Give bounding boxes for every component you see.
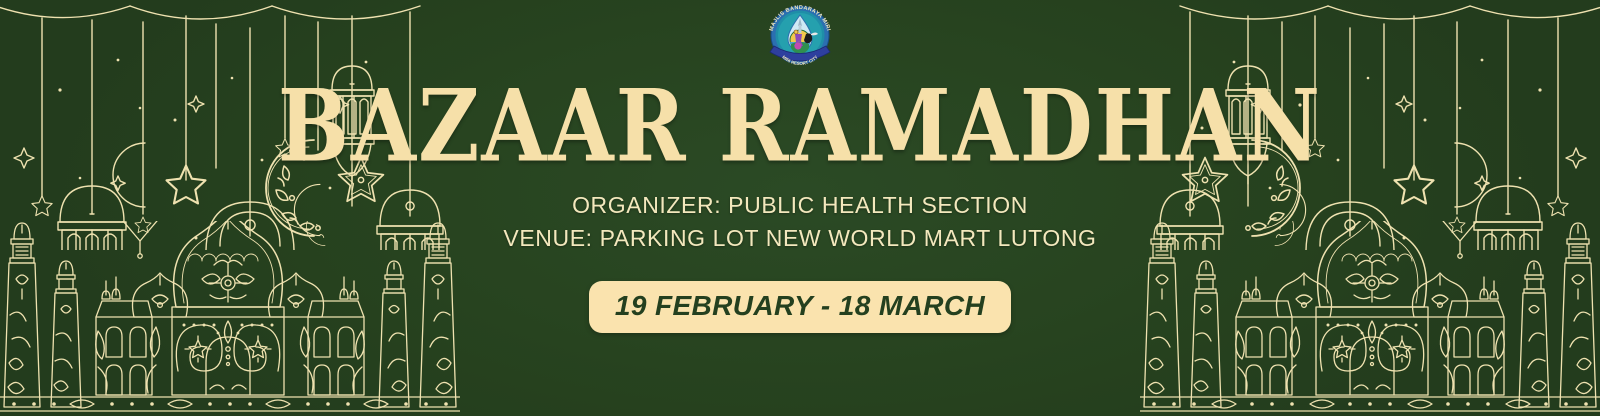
date-range-badge: 19 FEBRUARY - 18 MARCH [589, 281, 1011, 333]
organizer-line: ORGANIZER: PUBLIC HEALTH SECTION [503, 189, 1096, 222]
venue-line: VENUE: PARKING LOT NEW WORLD MART LUTONG [503, 222, 1096, 255]
page-title: BAZAAR RAMADHAN [278, 78, 1322, 174]
event-details: ORGANIZER: PUBLIC HEALTH SECTION VENUE: … [503, 189, 1096, 254]
ramadhan-bazaar-banner: MAJLIS BANDARAYA MIRI MIRI RESORT CITY B… [0, 0, 1600, 416]
banner-text-content: BAZAAR RAMADHAN ORGANIZER: PUBLIC HEALTH… [0, 0, 1600, 333]
